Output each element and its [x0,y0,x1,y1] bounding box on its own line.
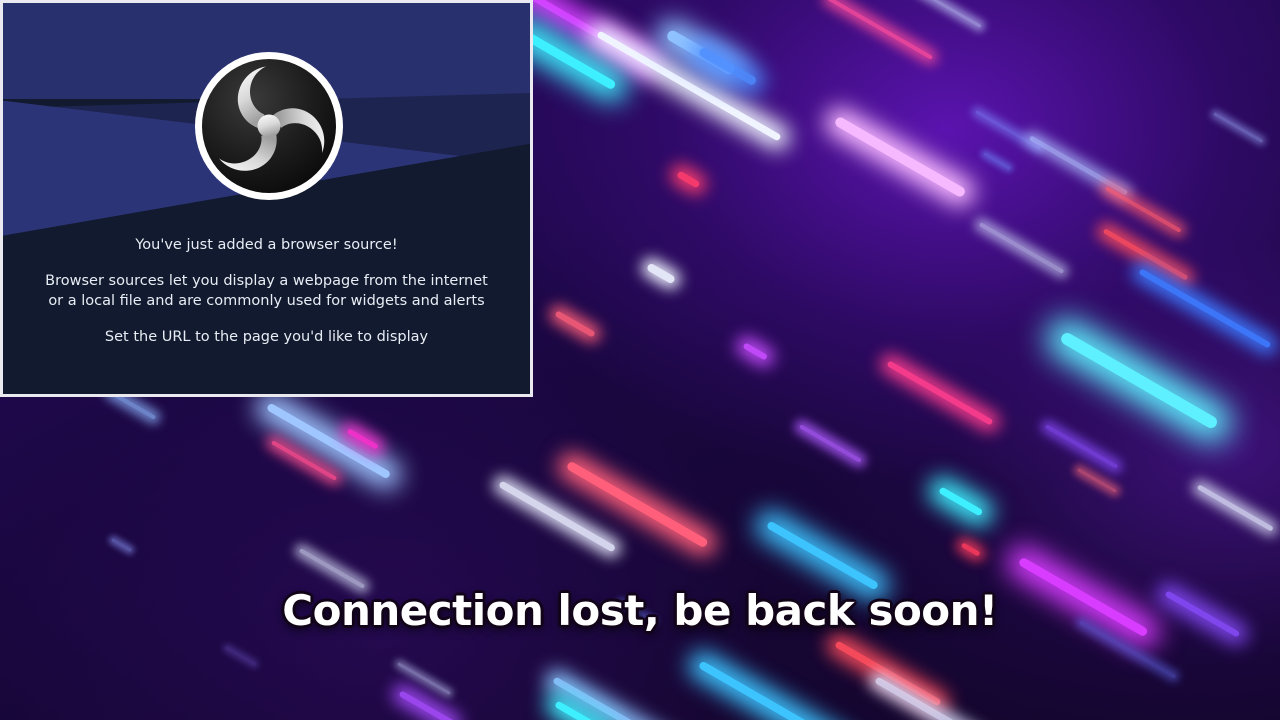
neon-streak [646,263,676,285]
connection-lost-message: Connection lost, be back soon! [0,586,1280,635]
obs-logo-icon [191,48,347,204]
browser-source-line-2a: Browser sources let you display a webpag… [3,271,530,291]
neon-streak [834,116,967,199]
neon-streak [887,360,994,425]
neon-streak [983,152,1010,170]
neon-streak [1213,112,1263,143]
neon-streak [1197,484,1274,531]
neon-streak [698,47,758,87]
neon-streak [919,0,981,28]
neon-streak [1045,424,1118,468]
browser-source-help-text: You've just added a browser source! Brow… [3,235,530,347]
neon-streak [979,222,1064,273]
neon-streak [299,548,365,588]
neon-streak [397,662,450,695]
neon-streak [271,440,337,480]
neon-streak [399,690,456,720]
neon-streak [347,428,379,449]
neon-streak [766,521,879,591]
neon-streak [975,110,1041,150]
neon-streak [961,542,981,556]
neon-streak [834,640,941,706]
neon-streak [1105,186,1181,232]
neon-streak [698,661,849,720]
neon-streak [743,342,769,360]
neon-streak [111,538,132,552]
neon-streak [498,480,616,552]
neon-streak [676,170,700,188]
browser-source-line-1: You've just added a browser source! [3,235,530,255]
neon-streak [1077,468,1117,493]
browser-source-line-2b: or a local file and are commonly used fo… [3,291,530,311]
neon-streak [1059,331,1219,430]
neon-streak [874,676,1007,720]
neon-streak [1139,268,1272,348]
neon-streak [555,310,596,337]
neon-streak [827,0,933,60]
browser-source-line-3: Set the URL to the page you'd like to di… [3,327,530,347]
obs-browser-source-panel[interactable]: You've just added a browser source! Brow… [0,0,533,397]
neon-streak [225,646,256,666]
neon-streak [938,486,983,516]
neon-streak [799,424,862,462]
neon-streak [1029,135,1128,195]
